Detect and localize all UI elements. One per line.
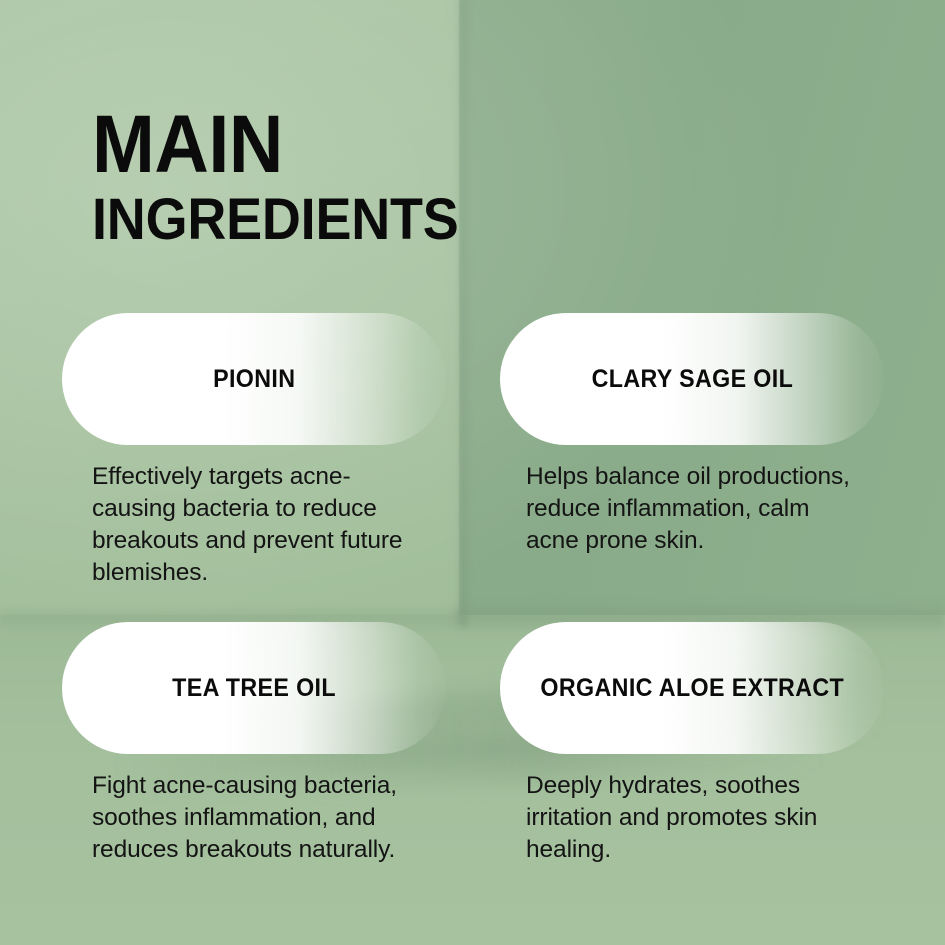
ingredient-description: Deeply hydrates, soothes irritation and … [500, 770, 884, 866]
ingredient-description: Fight acne-causing bacteria, soothes inf… [62, 770, 446, 866]
ingredient-description: Effectively targets acne- causing bacter… [62, 461, 446, 588]
page-title-line-1: MAIN [92, 107, 455, 182]
ingredient-card-pionin: PIONIN Effectively targets acne- causing… [62, 313, 446, 613]
ingredient-card-organic-aloe-extract: ORGANIC ALOE EXTRACT Deeply hydrates, so… [500, 622, 884, 890]
ingredient-pill: PIONIN [62, 313, 446, 445]
ingredient-card-clary-sage-oil: CLARY SAGE OIL Helps balance oil product… [500, 313, 884, 581]
ingredient-pill: TEA TREE OIL [62, 622, 446, 754]
ingredients-infographic: MAIN INGREDIENTS PIONIN Effectively targ… [0, 0, 945, 945]
page-title: MAIN INGREDIENTS [92, 107, 486, 248]
page-title-line-2: INGREDIENTS [92, 191, 459, 249]
ingredient-name: ORGANIC ALOE EXTRACT [516, 673, 868, 704]
ingredient-name: PIONIN [189, 364, 320, 395]
ingredient-description: Helps balance oil productions, reduce in… [500, 461, 884, 557]
ingredient-name: TEA TREE OIL [148, 673, 360, 704]
ingredient-name: CLARY SAGE OIL [567, 364, 817, 395]
ingredient-pill: ORGANIC ALOE EXTRACT [500, 622, 884, 754]
ingredient-pill: CLARY SAGE OIL [500, 313, 884, 445]
content-layer: MAIN INGREDIENTS PIONIN Effectively targ… [0, 0, 945, 945]
ingredient-card-tea-tree-oil: TEA TREE OIL Fight acne-causing bacteria… [62, 622, 446, 890]
